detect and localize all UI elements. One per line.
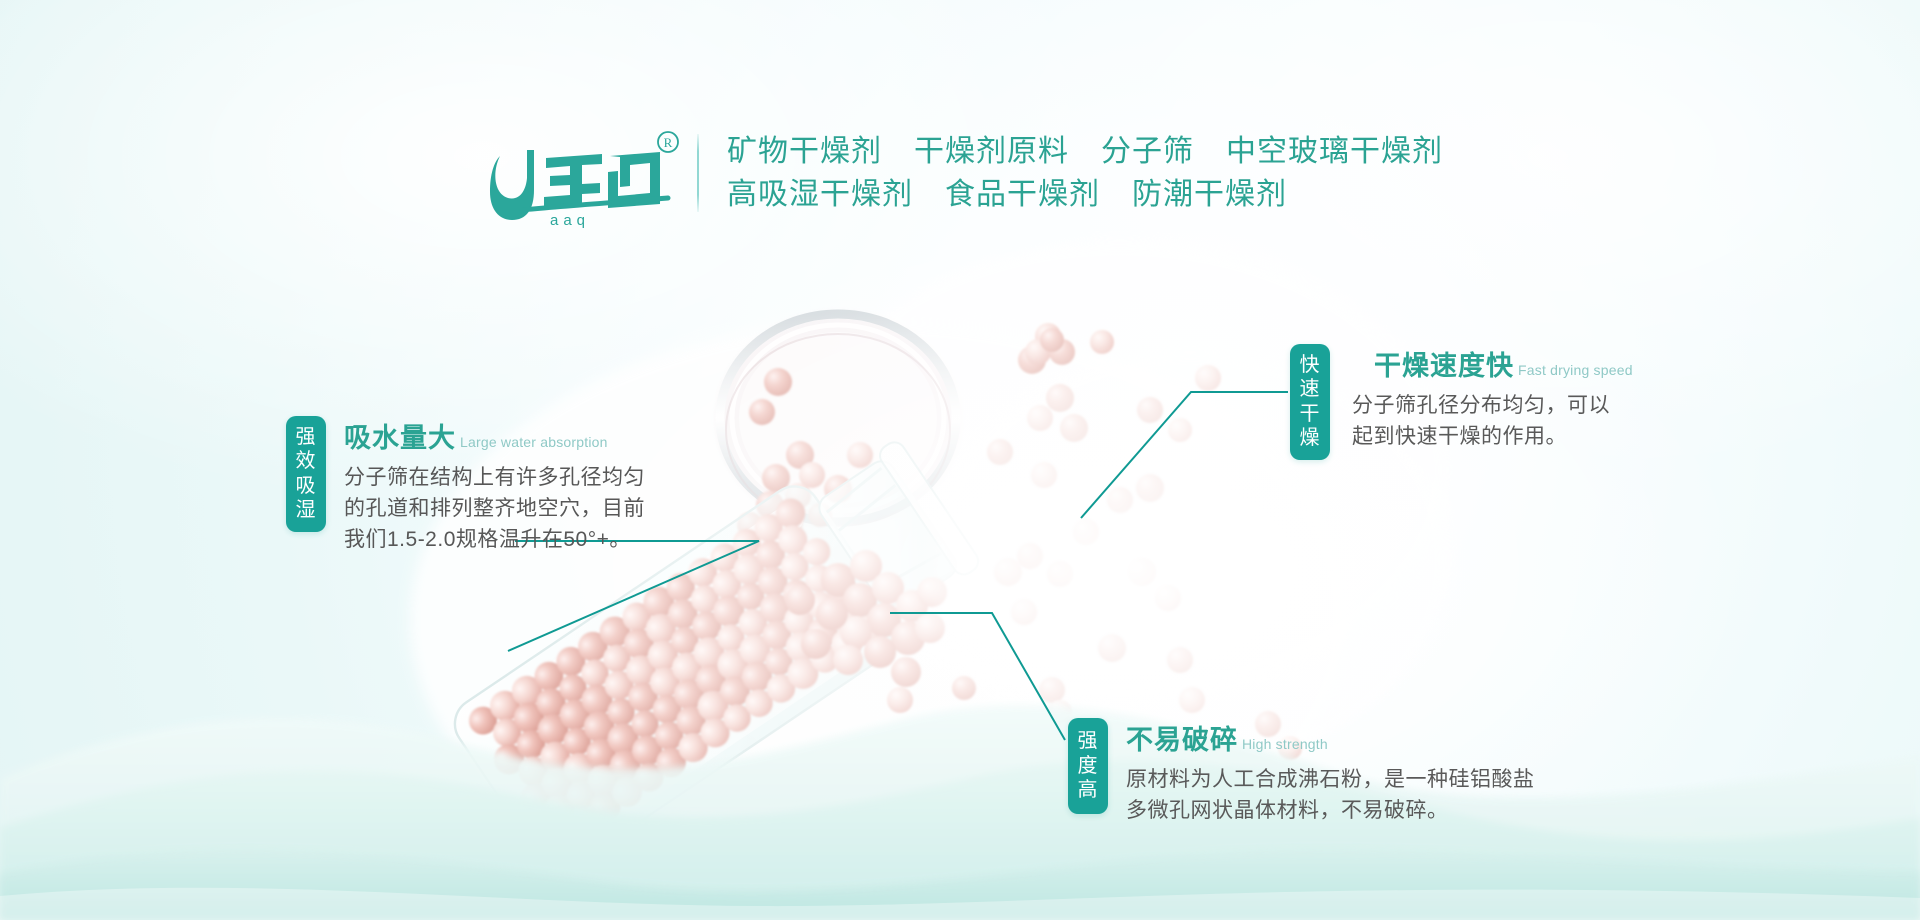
registered-trademark-icon: R (658, 132, 678, 152)
badge-char: 效 (296, 449, 317, 473)
header: R aaq 矿物干燥剂 干燥剂原料 分子筛 中空玻璃干燥剂 高吸湿干燥剂 食品干… (0, 118, 1920, 228)
callout-description: 分子筛孔径分布均匀，可以 起到快速干燥的作用。 (1352, 390, 1633, 452)
header-keywords: 矿物干燥剂 干燥剂原料 分子筛 中空玻璃干燥剂 高吸湿干燥剂 食品干燥剂 防潮干… (727, 135, 1443, 211)
badge-char: 吸 (296, 474, 317, 498)
badge-char: 干 (1300, 402, 1321, 426)
keyword-high-moisture-absorption-desiccant[interactable]: 高吸湿干燥剂 (727, 178, 913, 212)
callout-title-en: High strength (1242, 736, 1328, 752)
yaao-logo-mark: R aaq (482, 128, 682, 228)
banner-stage: R aaq 矿物干燥剂 干燥剂原料 分子筛 中空玻璃干燥剂 高吸湿干燥剂 食品干… (0, 0, 1920, 920)
connector-strength (890, 613, 1065, 740)
keyword-row-1: 矿物干燥剂 干燥剂原料 分子筛 中空玻璃干燥剂 (727, 135, 1443, 169)
keyword-moisture-proof-desiccant[interactable]: 防潮干燥剂 (1132, 178, 1287, 212)
badge-char: 速 (1300, 377, 1321, 401)
badge-char: 强 (1078, 729, 1099, 753)
glass-ring-dish (716, 312, 960, 528)
connector-absorption (508, 541, 759, 651)
keyword-mineral-desiccant[interactable]: 矿物干燥剂 (727, 135, 882, 169)
logo-subtext: aaq (550, 212, 590, 228)
callout-large-water-absorption: 强 效 吸 湿 吸水量大 Large water absorption 分子筛在… (286, 416, 645, 555)
callout-high-strength: 强 度 高 不易破碎 High strength 原材料为人工合成沸石粉，是一种… (1068, 718, 1535, 826)
badge-char: 燥 (1300, 426, 1321, 450)
svg-text:R: R (664, 135, 673, 150)
badge-high-strength: 强 度 高 (1068, 718, 1108, 814)
badge-char: 快 (1300, 353, 1321, 377)
connector-speed (1081, 392, 1288, 518)
keyword-food-desiccant[interactable]: 食品干燥剂 (945, 178, 1100, 212)
callout-description: 分子筛在结构上有许多孔径均匀 的孔道和排列整齐地空穴，目前 我们1.5-2.0规… (344, 462, 645, 555)
badge-fast-drying: 快 速 干 燥 (1290, 344, 1330, 460)
callout-title-en: Fast drying speed (1518, 362, 1633, 378)
bottom-waves (0, 660, 1920, 920)
callout-description: 原材料为人工合成沸石粉，是一种硅铝酸盐 多微孔网状晶体材料，不易破碎。 (1126, 764, 1535, 826)
keyword-insulating-glass-desiccant[interactable]: 中空玻璃干燥剂 (1226, 135, 1443, 169)
keyword-row-2: 高吸湿干燥剂 食品干燥剂 防潮干燥剂 (727, 178, 1443, 212)
logo[interactable]: R aaq (477, 118, 687, 228)
badge-char: 湿 (296, 498, 317, 522)
keyword-molecular-sieve[interactable]: 分子筛 (1101, 135, 1194, 169)
badge-char: 高 (1078, 778, 1099, 802)
keyword-desiccant-raw-material[interactable]: 干燥剂原料 (914, 135, 1069, 169)
header-divider (697, 134, 699, 212)
callout-title-cn: 干燥速度快 (1374, 344, 1514, 383)
badge-strong-moisture-absorption: 强 效 吸 湿 (286, 416, 326, 532)
callout-title-cn: 不易破碎 (1126, 718, 1238, 757)
callout-fast-drying-speed: 快 速 干 燥 干燥速度快 Fast drying speed 分子筛孔径分布均… (1290, 344, 1633, 460)
badge-char: 度 (1078, 754, 1099, 778)
callout-title-cn: 吸水量大 (344, 416, 456, 455)
callout-title-en: Large water absorption (460, 434, 608, 450)
badge-char: 强 (296, 425, 317, 449)
